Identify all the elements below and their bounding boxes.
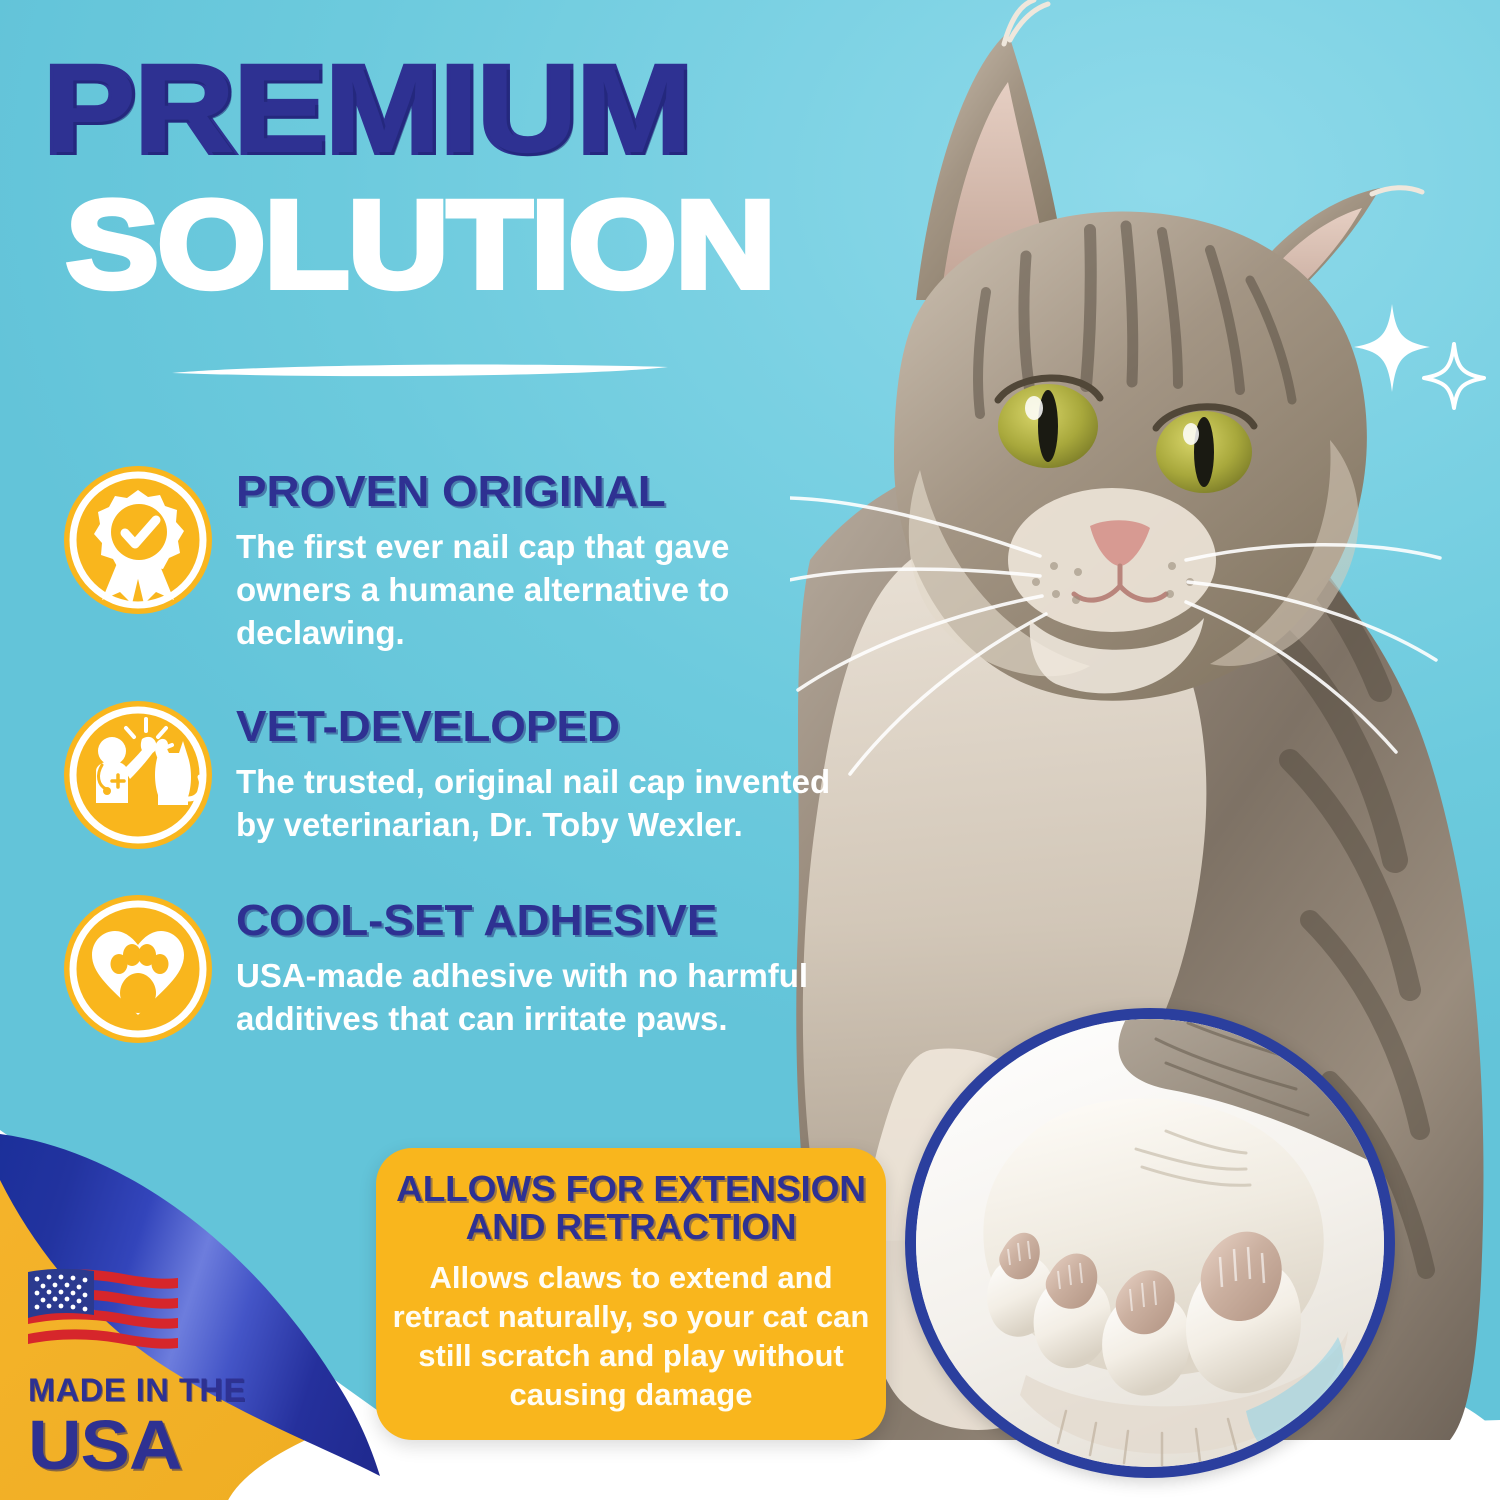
cat-paw-inset-photo: [905, 1008, 1395, 1478]
feature-item-cool-set-adhesive: COOL-SET ADHESIVE USA-made adhesive with…: [62, 891, 852, 1043]
made-in-usa-badge: MADE IN THE USA: [28, 1268, 258, 1481]
feature-text-block: COOL-SET ADHESIVE USA-made adhesive with…: [236, 891, 852, 1041]
feature-body: The trusted, original nail cap invented …: [236, 761, 836, 847]
feature-item-vet-developed: VET-DEVELOPED The trusted, original nail…: [62, 697, 852, 849]
feature-title: PROVEN ORIGINAL: [236, 470, 877, 514]
usa-flag-icon: [28, 1268, 178, 1360]
callout-title-line1: ALLOWS FOR EXTENSION: [396, 1168, 866, 1209]
feature-title: VET-DEVELOPED: [236, 705, 877, 749]
callout-title: ALLOWS FOR EXTENSION AND RETRACTION: [385, 1170, 877, 1246]
sparkle-stars-icon: [1350, 300, 1490, 410]
headline-solution: SOLUTION: [66, 187, 971, 304]
product-infographic: PREMIUM SOLUTION: [0, 0, 1500, 1500]
usa-badge-line1: MADE IN THE: [28, 1374, 263, 1406]
feature-text-block: PROVEN ORIGINAL The first ever nail cap …: [236, 462, 852, 655]
callout-title-line2: AND RETRACTION: [466, 1206, 797, 1247]
extension-retraction-callout: ALLOWS FOR EXTENSION AND RETRACTION Allo…: [376, 1148, 886, 1440]
feature-item-proven-original: PROVEN ORIGINAL The first ever nail cap …: [62, 462, 852, 655]
award-ribbon-check-icon: [62, 464, 214, 616]
heart-paw-print-icon: [62, 893, 214, 1045]
feature-body: The first ever nail cap that gave owners…: [236, 526, 736, 655]
callout-body: Allows claws to extend and retract natur…: [392, 1258, 870, 1414]
swoosh-divider: [170, 362, 670, 380]
feature-text-block: VET-DEVELOPED The trusted, original nail…: [236, 697, 852, 847]
headline-premium: PREMIUM: [44, 52, 974, 169]
headline-block: PREMIUM SOLUTION: [44, 52, 874, 303]
vet-high-five-cat-icon: [62, 699, 214, 851]
feature-body: USA-made adhesive with no harmful additi…: [236, 955, 816, 1041]
feature-title: COOL-SET ADHESIVE: [236, 899, 877, 943]
feature-list: PROVEN ORIGINAL The first ever nail cap …: [62, 462, 852, 1085]
usa-badge-line2: USA: [28, 1410, 272, 1481]
